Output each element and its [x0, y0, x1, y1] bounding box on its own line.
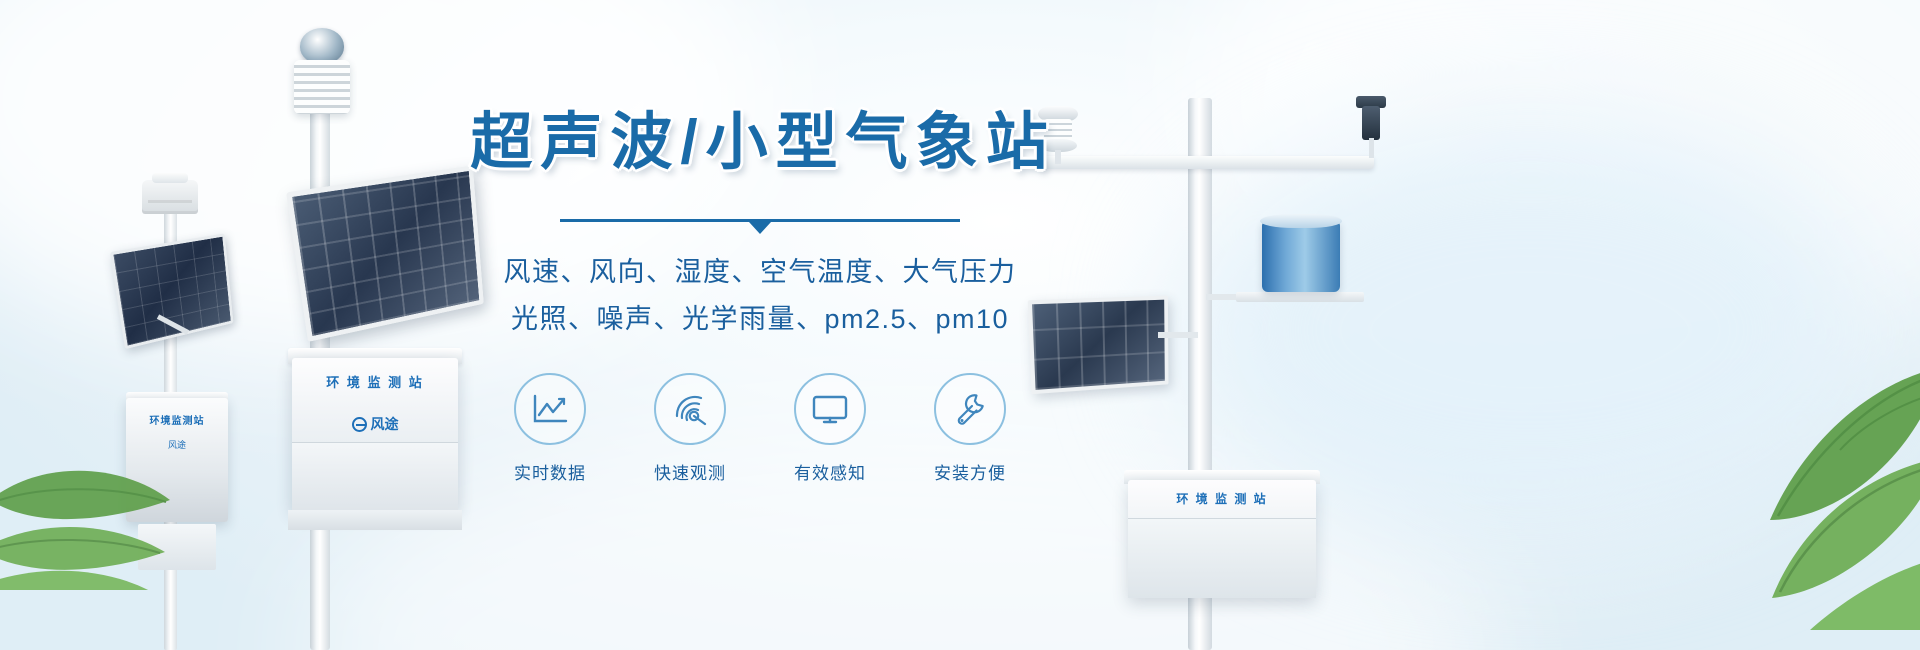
wrench-icon — [952, 391, 988, 427]
divider — [560, 219, 960, 233]
brand-logo-icon — [352, 417, 367, 432]
feature-label: 安装方便 — [924, 459, 1016, 484]
page-title: 超声波/小型气象站 — [446, 110, 1080, 177]
station-large-label: 环 境 监 测 站 — [302, 372, 448, 391]
enclosure-base — [138, 524, 216, 570]
enclosure-door — [292, 442, 458, 510]
feature-icon-circle — [514, 373, 586, 445]
panel-support-arm — [1158, 332, 1198, 338]
vane-pin — [1369, 138, 1374, 158]
banner-stage: 环境监测站 风途 环 境 监 测 站 风途 — [0, 0, 1920, 650]
line-chart-icon — [531, 393, 569, 425]
feature-list: 实时数据 快速观测 — [440, 373, 1080, 484]
feature-icon-circle — [794, 373, 866, 445]
feature-icon-circle — [654, 373, 726, 445]
product-image-station-tower: 环 境 监 测 站 — [1030, 50, 1390, 650]
subtitle-list: 风速、风向、湿度、空气温度、大气压力 光照、噪声、光学雨量、pm2.5、pm10 — [440, 249, 1080, 344]
feature-icon-circle — [934, 373, 1006, 445]
cross-arm — [1038, 156, 1374, 169]
gauge-funnel — [1260, 214, 1342, 228]
monitor-screen-icon — [811, 393, 849, 425]
feature-label: 实时数据 — [504, 459, 596, 484]
leaf-decoration-right — [1630, 330, 1920, 630]
rain-gauge-sensor — [1262, 210, 1340, 296]
feature-item-fast-observation[interactable]: 快速观测 — [644, 373, 736, 484]
station-tower-label: 环 境 监 测 站 — [1138, 490, 1306, 507]
product-image-station-small: 环境监测站 风途 — [108, 180, 268, 650]
feature-item-easy-install[interactable]: 安装方便 — [924, 373, 1016, 484]
solar-panel — [110, 233, 234, 349]
banner-content: 超声波/小型气象站 风速、风向、湿度、空气温度、大气压力 光照、噪声、光学雨量、… — [440, 110, 1080, 484]
subtitle-line-2: 光照、噪声、光学雨量、pm2.5、pm10 — [440, 296, 1080, 343]
ultrasonic-dome-sensor — [300, 28, 344, 64]
radiation-shield-sensor — [142, 180, 198, 214]
subtitle-line-1: 风速、风向、湿度、空气温度、大气压力 — [440, 249, 1080, 296]
station-small-label: 环境监测站 — [132, 412, 222, 427]
station-small-brand: 风途 — [132, 438, 222, 451]
gauge-cylinder — [1262, 220, 1340, 292]
feature-item-effective-sensing[interactable]: 有效感知 — [784, 373, 876, 484]
enclosure-door — [1128, 518, 1316, 598]
station-large-brand: 风途 — [302, 414, 448, 434]
radiation-shield-sensor — [294, 60, 350, 114]
radar-signal-icon — [671, 392, 709, 426]
brand-text: 风途 — [371, 416, 399, 432]
feature-label: 快速观测 — [644, 459, 736, 484]
feature-label: 有效感知 — [784, 459, 876, 484]
triangle-down-icon — [749, 222, 771, 234]
wind-vane-sensor — [1348, 96, 1394, 158]
enclosure-base — [288, 510, 462, 530]
vane-body — [1362, 106, 1380, 140]
feature-item-realtime-data[interactable]: 实时数据 — [504, 373, 596, 484]
